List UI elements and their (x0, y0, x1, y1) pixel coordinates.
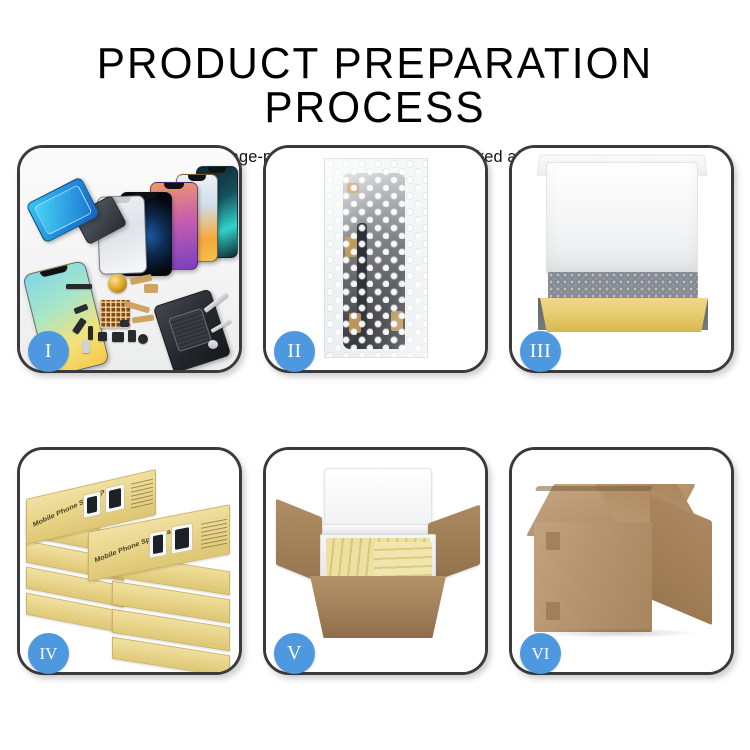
foam-case-lid (324, 468, 432, 530)
carton-drop-shadow (538, 628, 698, 638)
header: PRODUCT PREPARATION PROCESS All products… (0, 0, 750, 167)
carton-top-seam (535, 486, 654, 491)
page-title: PRODUCT PREPARATION PROCESS (15, 42, 735, 130)
box-spec-lines-2 (201, 516, 227, 549)
box-white-foam-liner (546, 162, 698, 274)
box-print-label-2: Mobile Phone Spare Parts (94, 525, 180, 565)
step-panel-5: V (263, 447, 488, 675)
step-badge-2: II (274, 331, 315, 372)
yellow-boxes-row-2 (374, 542, 432, 576)
box-window-2b (171, 522, 193, 554)
foam-case-lip (320, 524, 436, 534)
step-panel-6: VI (509, 447, 734, 675)
step-badge-1: I (28, 331, 69, 372)
screw-part (208, 340, 218, 349)
carton-tape-upper (546, 532, 560, 550)
step-panel-4: Mobile Phone Spare Parts Mobile Phone Sp… (17, 447, 242, 675)
vibration-motor-part (108, 274, 127, 293)
earpiece-speaker-part (66, 284, 92, 289)
carton-body (310, 576, 446, 638)
step-badge-3: III (520, 331, 561, 372)
small-part-c (98, 332, 107, 341)
small-part-d (112, 332, 124, 342)
small-part-b (88, 326, 93, 340)
camera-lens-part (138, 334, 148, 344)
box-window-2a (149, 529, 167, 558)
box-window-1a (83, 491, 101, 519)
step-badge-6: VI (520, 633, 561, 674)
carton-tape-lower (546, 602, 560, 620)
step-badge-5: V (274, 633, 315, 674)
small-part-e (128, 330, 136, 342)
flex-cable-b (144, 284, 158, 293)
product-preparation-infographic: PRODUCT PREPARATION PROCESS All products… (0, 0, 750, 750)
step-badge-4: IV (28, 633, 69, 674)
process-steps-grid: I II (17, 145, 734, 675)
bubble-wrap-bag (324, 158, 428, 358)
grey-bubble-foam-layer (548, 272, 698, 302)
chiplet-b (120, 320, 129, 327)
sim-tray-part (82, 340, 90, 353)
step-panel-2: II (263, 145, 488, 373)
box-window-1b (105, 483, 125, 514)
yellow-mailer-box (540, 298, 708, 332)
box-spec-lines-1 (131, 478, 153, 509)
plastic-sheen (325, 159, 427, 357)
step-panel-1: I (17, 145, 242, 373)
step-panel-3: III (509, 145, 734, 373)
